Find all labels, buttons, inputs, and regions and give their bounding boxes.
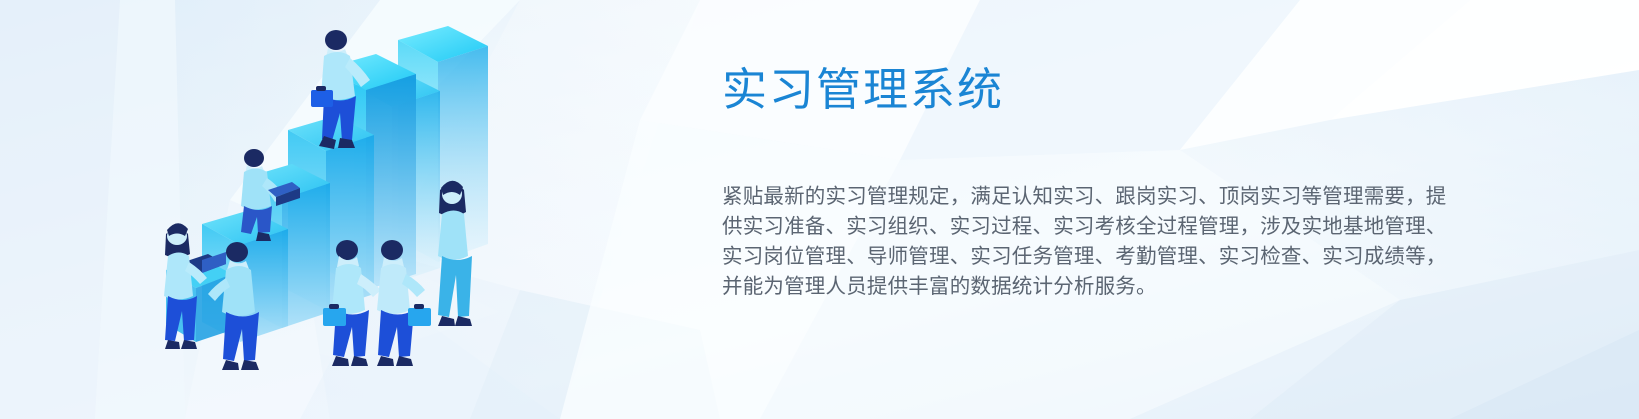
banner-description: 紧贴最新的实习管理规定，满足认知实习、跟岗实习、顶岗实习等管理需要，提 供实习准… bbox=[722, 118, 1405, 302]
hero-banner: 实习管理系统 紧贴最新的实习管理规定，满足认知实习、跟岗实习、顶岗实习等管理需要… bbox=[0, 0, 1639, 419]
banner-copy: 实习管理系统 紧贴最新的实习管理规定，满足认知实习、跟岗实习、顶岗实习等管理需要… bbox=[722, 62, 1412, 302]
description-line-4: 并能为管理人员提供丰富的数据统计分析服务。 bbox=[722, 272, 1405, 302]
isometric-growth-chart-team-illustration bbox=[140, 12, 520, 372]
description-line-3: 实习岗位管理、导师管理、实习任务管理、考勤管理、实习检查、实习成绩等， bbox=[722, 242, 1405, 272]
page-title: 实习管理系统 bbox=[722, 62, 1412, 118]
description-line-1: 紧贴最新的实习管理规定，满足认知实习、跟岗实习、顶岗实习等管理需要，提 bbox=[722, 182, 1405, 212]
description-line-2: 供实习准备、实习组织、实习过程、实习考核全过程管理，涉及实地基地管理、 bbox=[722, 212, 1405, 242]
